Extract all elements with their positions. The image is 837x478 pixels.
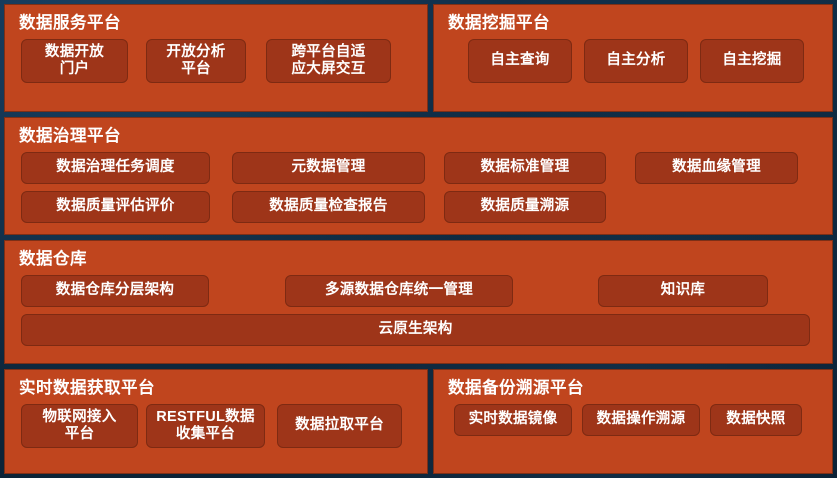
card-row: 实时数据镜像 数据操作溯源 数据快照 (446, 404, 820, 436)
card-data-operation-tracing[interactable]: 数据操作溯源 (582, 404, 700, 436)
card-data-pull-platform[interactable]: 数据拉取平台 (277, 404, 402, 448)
card-warehouse-layered-architecture[interactable]: 数据仓库分层架构 (21, 275, 209, 307)
card-knowledge-base[interactable]: 知识库 (598, 275, 768, 307)
card-data-quality-assessment[interactable]: 数据质量评估评价 (21, 191, 210, 223)
diagram-row-governance: 数据治理平台 数据治理任务调度 元数据管理 数据标准管理 数据血缘管理 数据质量… (4, 117, 833, 235)
panel-title: 数据治理平台 (19, 127, 820, 146)
card-self-analysis[interactable]: 自主分析 (584, 39, 688, 83)
card-open-analysis-platform[interactable]: 开放分析 平台 (146, 39, 246, 83)
panel-title: 数据备份溯源平台 (448, 379, 820, 398)
diagram-row-services: 数据服务平台 数据开放 门户 开放分析 平台 跨平台自适 应大屏交互 数据挖掘平… (4, 4, 833, 112)
diagram-rows: 数据服务平台 数据开放 门户 开放分析 平台 跨平台自适 应大屏交互 数据挖掘平… (4, 4, 833, 474)
card-data-snapshot[interactable]: 数据快照 (710, 404, 802, 436)
panel-body: 数据仓库分层架构 多源数据仓库统一管理 知识库 云原生架构 (17, 275, 820, 346)
card-restful-collection-platform[interactable]: RESTFUL数据 收集平台 (146, 404, 265, 448)
panel-data-governance-platform[interactable]: 数据治理平台 数据治理任务调度 元数据管理 数据标准管理 数据血缘管理 数据质量… (4, 117, 833, 235)
panel-title: 数据挖掘平台 (448, 14, 820, 33)
panel-body: 数据开放 门户 开放分析 平台 跨平台自适 应大屏交互 (17, 39, 415, 83)
panel-body: 物联网接入 平台 RESTFUL数据 收集平台 数据拉取平台 (17, 404, 415, 448)
card-row: 自主查询 自主分析 自主挖掘 (446, 39, 820, 83)
panel-title: 数据服务平台 (19, 14, 415, 33)
card-row: 数据治理任务调度 元数据管理 数据标准管理 数据血缘管理 (17, 152, 820, 184)
panel-data-warehouse[interactable]: 数据仓库 数据仓库分层架构 多源数据仓库统一管理 知识库 云原生架构 (4, 240, 833, 364)
panel-body: 实时数据镜像 数据操作溯源 数据快照 (446, 404, 820, 436)
card-cloud-native-architecture[interactable]: 云原生架构 (21, 314, 810, 346)
diagram-row-data-warehouse: 数据仓库 数据仓库分层架构 多源数据仓库统一管理 知识库 云原生架构 (4, 240, 833, 364)
card-row: 物联网接入 平台 RESTFUL数据 收集平台 数据拉取平台 (17, 404, 415, 448)
panel-data-backup-tracing-platform[interactable]: 数据备份溯源平台 实时数据镜像 数据操作溯源 数据快照 (433, 369, 833, 474)
card-row: 云原生架构 (17, 314, 820, 346)
panel-data-mining-platform[interactable]: 数据挖掘平台 自主查询 自主分析 自主挖掘 (433, 4, 833, 112)
card-data-open-portal[interactable]: 数据开放 门户 (21, 39, 128, 83)
card-self-query[interactable]: 自主查询 (468, 39, 572, 83)
card-row: 数据仓库分层架构 多源数据仓库统一管理 知识库 (17, 275, 820, 307)
card-row: 数据质量评估评价 数据质量检查报告 数据质量溯源 (17, 191, 820, 223)
card-self-mining[interactable]: 自主挖掘 (700, 39, 804, 83)
diagram-row-acquisition-backup: 实时数据获取平台 物联网接入 平台 RESTFUL数据 收集平台 数据拉取平台 … (4, 369, 833, 474)
card-data-quality-inspection-report[interactable]: 数据质量检查报告 (232, 191, 425, 223)
card-data-standard-management[interactable]: 数据标准管理 (444, 152, 606, 184)
architecture-diagram: 数据服务平台 数据开放 门户 开放分析 平台 跨平台自适 应大屏交互 数据挖掘平… (0, 0, 837, 478)
panel-title: 实时数据获取平台 (19, 379, 415, 398)
card-governance-task-scheduling[interactable]: 数据治理任务调度 (21, 152, 210, 184)
panel-realtime-data-acquisition-platform[interactable]: 实时数据获取平台 物联网接入 平台 RESTFUL数据 收集平台 数据拉取平台 (4, 369, 428, 474)
card-row: 数据开放 门户 开放分析 平台 跨平台自适 应大屏交互 (17, 39, 415, 83)
card-iot-access-platform[interactable]: 物联网接入 平台 (21, 404, 138, 448)
card-cross-platform-bigscreen[interactable]: 跨平台自适 应大屏交互 (266, 39, 391, 83)
card-data-quality-tracing[interactable]: 数据质量溯源 (444, 191, 606, 223)
card-data-lineage-management[interactable]: 数据血缘管理 (635, 152, 798, 184)
panel-body: 数据治理任务调度 元数据管理 数据标准管理 数据血缘管理 数据质量评估评价 数据… (17, 152, 820, 223)
panel-data-service-platform[interactable]: 数据服务平台 数据开放 门户 开放分析 平台 跨平台自适 应大屏交互 (4, 4, 428, 112)
card-realtime-data-mirror[interactable]: 实时数据镜像 (454, 404, 572, 436)
panel-body: 自主查询 自主分析 自主挖掘 (446, 39, 820, 83)
card-multisource-unified-management[interactable]: 多源数据仓库统一管理 (285, 275, 513, 307)
card-metadata-management[interactable]: 元数据管理 (232, 152, 425, 184)
panel-title: 数据仓库 (19, 250, 820, 269)
